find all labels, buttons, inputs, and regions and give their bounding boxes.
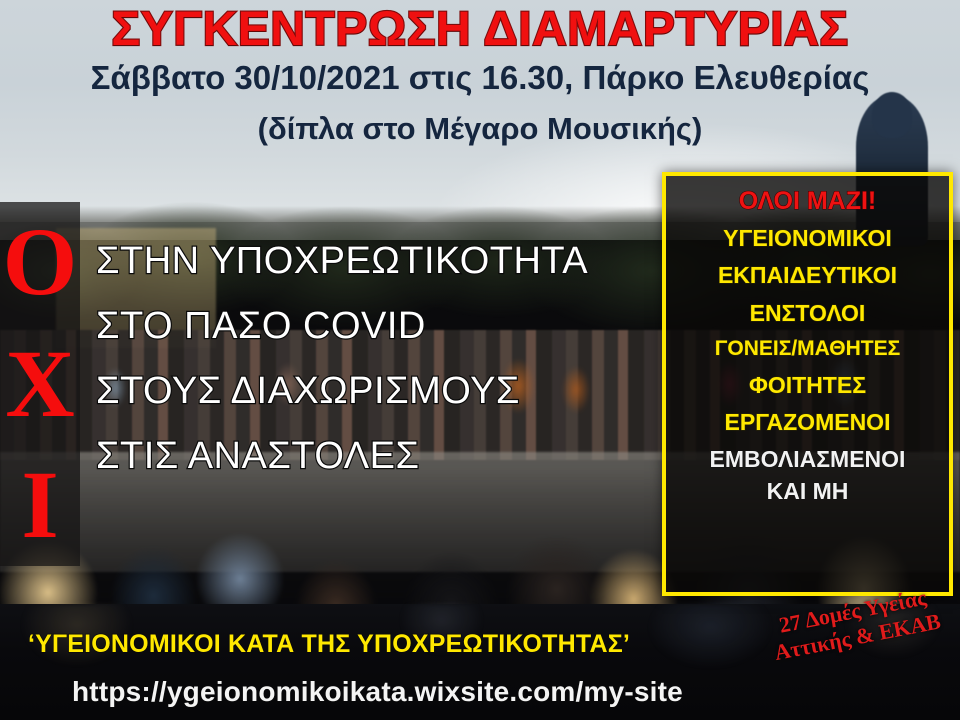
- event-location-note: (δίπλα στο Μέγαρο Μουσικής): [0, 97, 960, 147]
- poster-header: ΣΥΓΚΕΝΤΡΩΣΗ ΔΙΑΜΑΡΤΥΡΙΑΣ Σάββατο 30/10/2…: [0, 0, 960, 147]
- oxi-letter-omicron: Ο: [3, 219, 78, 305]
- callout-closing-line-2: ΚΑΙ ΜΗ: [666, 479, 949, 503]
- callout-closing-line-1: ΕΜΒΟΛΙΑΣΜΕΝΟΙ: [666, 447, 949, 471]
- oxi-letter-chi: Χ: [5, 341, 74, 427]
- organization-name: ‘ΥΓΕΙΟΝΟΜΙΚΟΙ ΚΑΤΑ ΤΗΣ ΥΠΟΧΡΕΩΤΙΚΟΤΗΤΑΣ’: [28, 630, 630, 659]
- callout-group-teachers: ΕΚΠΑΙΔΕΥΤΙΚΟΙ: [666, 263, 949, 287]
- poster-title: ΣΥΓΚΕΝΤΡΩΣΗ ΔΙΑΜΑΡΤΥΡΙΑΣ: [0, 0, 960, 57]
- participants-callout-box: ΟΛΟΙ ΜΑΖΙ! ΥΓΕΙΟΝΟΜΙΚΟΙ ΕΚΠΑΙΔΕΥΤΙΚΟΙ ΕΝ…: [662, 172, 953, 596]
- oxi-letter-iota: Ι: [21, 462, 58, 548]
- callout-group-healthcare: ΥΓΕΙΟΝΟΜΙΚΟΙ: [666, 226, 949, 250]
- protest-poster: ΣΥΓΚΕΝΤΡΩΣΗ ΔΙΑΜΑΡΤΥΡΙΑΣ Σάββατο 30/10/2…: [0, 0, 960, 720]
- slogan-line-4: ΣΤΙΣ ΑΝΑΣΤΟΛΕΣ: [96, 435, 656, 478]
- callout-group-uniformed: ΕΝΣΤΟΛΟΙ: [666, 301, 949, 325]
- oxi-word: Ο Χ Ι: [0, 202, 80, 566]
- slogan-list: ΣΤΗΝ ΥΠΟΧΡΕΩΤΙΚΟΤΗΤΑ ΣΤΟ ΠΑΣΟ COVID ΣΤΟΥ…: [96, 240, 656, 478]
- slogan-line-3: ΣΤΟΥΣ ΔΙΑΧΩΡΙΣΜΟΥΣ: [96, 370, 656, 413]
- callout-group-parents-students: ΓΟΝΕΙΣ/ΜΑΘΗΤΕΣ: [666, 338, 949, 360]
- event-datetime-location: Σάββατο 30/10/2021 στις 16.30, Πάρκο Ελε…: [0, 57, 960, 97]
- callout-group-university-students: ΦΟΙΤΗΤΕΣ: [666, 373, 949, 397]
- callout-group-workers: ΕΡΓΑΖΟΜΕΝΟΙ: [666, 410, 949, 434]
- website-url[interactable]: https://ygeionomikoikata.wixsite.com/my-…: [72, 676, 683, 708]
- callout-heading: ΟΛΟΙ ΜΑΖΙ!: [666, 188, 949, 214]
- slogan-line-2: ΣΤΟ ΠΑΣΟ COVID: [96, 305, 656, 348]
- slogan-line-1: ΣΤΗΝ ΥΠΟΧΡΕΩΤΙΚΟΤΗΤΑ: [96, 240, 656, 283]
